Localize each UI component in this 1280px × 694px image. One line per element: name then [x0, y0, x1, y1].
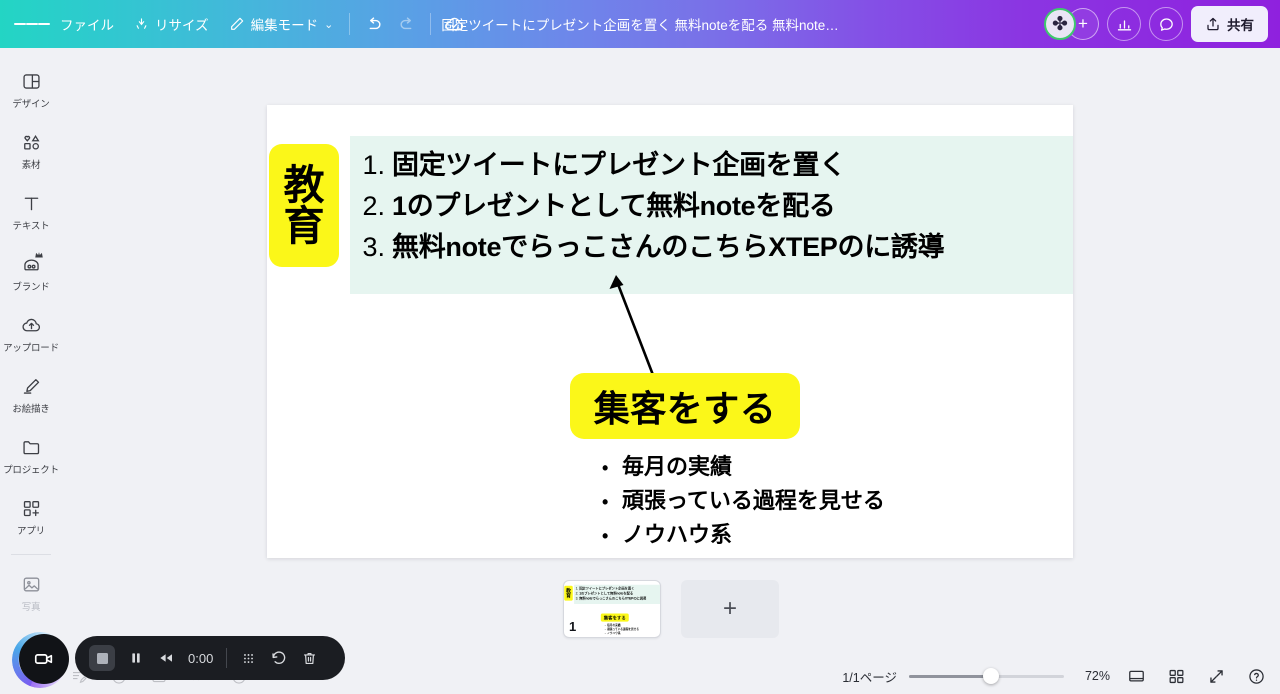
redo-icon[interactable] — [390, 8, 424, 40]
camera-bubble-button[interactable] — [19, 634, 69, 684]
tag-char-1: 教 — [284, 165, 325, 205]
upload-icon — [1205, 16, 1221, 32]
document-title[interactable]: 固定ツイートにプレゼント企画を置く 無料noteを配る 無料note… — [431, 9, 849, 39]
sidebar-item-draw[interactable]: お絵描き — [2, 367, 60, 420]
sidebar-item-apps[interactable]: アプリ — [2, 489, 60, 542]
stop-square-icon[interactable] — [89, 645, 115, 671]
sidebar-item-elements[interactable]: 素材 — [2, 123, 60, 176]
sidebar-label: 素材 — [22, 157, 41, 171]
dots-grid-icon[interactable] — [240, 650, 257, 667]
list-text: 無料noteでらっこさんのこちらXTEPのに誘導 — [579, 596, 646, 601]
design-layout-icon — [19, 69, 43, 93]
hamburger-icon[interactable] — [14, 8, 50, 40]
list-text: 無料noteでらっこさんのこちらXTEPのに誘導 — [392, 227, 944, 268]
sidebar-label: 写真 — [22, 599, 41, 613]
page-thumbnail-1[interactable]: 教 育 1. 固定ツイートにプレゼント企画を置く 2. 1のプレゼントとして無料… — [563, 580, 661, 638]
bullet-marker: • — [602, 489, 622, 517]
undo-icon[interactable] — [356, 8, 390, 40]
page-thumbnail-strip: 教 育 1. 固定ツイートにプレゼント企画を置く 2. 1のプレゼントとして無料… — [62, 580, 1280, 638]
avatar-splat-icon: ✤ — [1052, 15, 1068, 34]
sidebar-divider — [11, 554, 51, 555]
design-page[interactable]: 教 育 1. 固定ツイートにプレゼント企画を置く 2. 1のプレゼントとして無料… — [267, 105, 1073, 558]
sidebar-label: アップロード — [3, 340, 59, 354]
bullet-text: 頑張っている過程を見せる — [622, 484, 885, 518]
list-number: 2. — [352, 186, 392, 227]
thumb-bullets: • 毎月の実績 • 頑張っている過程を見せる • ノウハウ系 — [605, 623, 639, 635]
apps-grid-plus-icon — [19, 496, 43, 520]
sidebar-item-text[interactable]: テキスト — [2, 184, 60, 237]
highlight-callout[interactable]: 集客をする — [570, 373, 800, 439]
share-label: 共有 — [1227, 14, 1254, 34]
sidebar-item-uploads[interactable]: アップロード — [2, 306, 60, 359]
bullet-list-block[interactable]: • 毎月の実績 • 頑張っている過程を見せる • ノウハウ系 — [602, 450, 885, 552]
zoom-slider[interactable] — [909, 669, 1064, 683]
left-sidebar: デザイン 素材 テキスト — [0, 48, 62, 694]
video-camera-icon — [33, 648, 55, 670]
add-page-button[interactable]: + — [681, 580, 779, 638]
chevron-down-icon: ⌄ — [324, 18, 333, 31]
thumb-numbered-list: 1. 固定ツイートにプレゼント企画を置く 2. 1のプレゼントとして無料note… — [574, 585, 661, 604]
sidebar-label: アプリ — [17, 523, 45, 537]
present-screen-icon[interactable] — [1122, 662, 1150, 690]
slider-thumb[interactable] — [983, 668, 999, 684]
education-tag[interactable]: 教 育 — [269, 144, 339, 267]
text-t-icon — [19, 191, 43, 215]
list-item: 2. 1のプレゼントとして無料noteを配る — [352, 186, 1073, 227]
list-item: • 頑張っている過程を見せる — [602, 484, 885, 518]
thumb-tag-char-2: 育 — [566, 593, 571, 598]
list-item: • ノウハウ系 — [605, 631, 639, 635]
sidebar-item-projects[interactable]: プロジェクト — [2, 428, 60, 481]
recording-timer: 0:00 — [188, 651, 213, 666]
elements-shapes-icon — [19, 130, 43, 154]
numbered-list-block[interactable]: 1. 固定ツイートにプレゼント企画を置く 2. 1のプレゼントとして無料note… — [350, 136, 1073, 294]
pause-icon[interactable] — [128, 650, 144, 666]
bullet-text: ノウハウ系 — [607, 631, 620, 635]
photo-icon — [19, 572, 43, 596]
curved-arrow-icon — [607, 269, 667, 379]
sidebar-item-photos[interactable]: 写真 — [2, 565, 60, 618]
bullet-text: 毎月の実績 — [622, 450, 732, 484]
page-counter: 1/1ページ — [842, 667, 897, 686]
list-item: 3. 無料noteでらっこさんのこちらXTEPのに誘導 — [574, 596, 661, 601]
magic-resize-icon — [134, 17, 149, 32]
avatar[interactable]: ✤ — [1044, 8, 1076, 40]
folder-icon — [19, 435, 43, 459]
grid-view-icon[interactable] — [1162, 662, 1190, 690]
file-menu-button[interactable]: ファイル — [50, 8, 124, 40]
slider-fill — [909, 675, 991, 678]
sidebar-label: プロジェクト — [3, 462, 59, 476]
top-toolbar: ファイル リサイズ 編集モード ⌄ — [0, 0, 1280, 48]
highlight-text: 集客をする — [594, 380, 777, 432]
brand-crown-icon — [19, 252, 43, 276]
resize-label: リサイズ — [155, 14, 209, 34]
thumb-education-tag: 教 育 — [564, 586, 573, 601]
sidebar-label: お絵描き — [12, 401, 49, 415]
sidebar-item-design[interactable]: デザイン — [2, 62, 60, 115]
upload-cloud-icon — [19, 313, 43, 337]
recorder-divider — [226, 648, 227, 668]
sidebar-label: デザイン — [12, 96, 49, 110]
list-text: 固定ツイートにプレゼント企画を置く — [392, 145, 846, 186]
top-toolbar-right: ✤ + 共有 — [1044, 6, 1268, 42]
bullet-marker: • — [602, 455, 622, 483]
restart-icon[interactable] — [270, 649, 288, 667]
trash-icon[interactable] — [301, 650, 318, 667]
list-text: 1のプレゼントとして無料noteを配る — [392, 186, 836, 227]
analytics-icon[interactable] — [1107, 7, 1141, 41]
share-button[interactable]: 共有 — [1191, 6, 1268, 42]
thumbnail-preview: 教 育 1. 固定ツイートにプレゼント企画を置く 2. 1のプレゼントとして無料… — [564, 581, 661, 636]
edit-mode-button[interactable]: 編集モード ⌄ — [219, 8, 344, 40]
highlight-text: 集客をする — [604, 614, 626, 620]
zoom-percentage: 72% — [1076, 669, 1110, 683]
draw-pen-icon — [19, 374, 43, 398]
bullet-marker: • — [602, 523, 622, 551]
rewind-icon[interactable] — [157, 649, 175, 667]
recording-toolbar: 0:00 — [75, 636, 345, 680]
collaborators: ✤ + — [1044, 8, 1099, 40]
sidebar-label: テキスト — [13, 218, 50, 232]
edit-mode-label: 編集モード — [251, 14, 319, 34]
list-number: 3. — [352, 227, 392, 268]
top-toolbar-left: ファイル リサイズ 編集モード ⌄ — [0, 8, 471, 40]
resize-button[interactable]: リサイズ — [124, 8, 219, 40]
thumb-highlight: 集客をする — [601, 614, 629, 622]
list-item: 1. 固定ツイートにプレゼント企画を置く — [352, 145, 1073, 186]
tag-char-2: 育 — [284, 206, 325, 246]
pencil-icon — [229, 16, 245, 32]
sidebar-item-brand[interactable]: ブランド — [2, 245, 60, 298]
expand-icon[interactable] — [1202, 662, 1230, 690]
canvas-work-area[interactable]: 教 育 1. 固定ツイートにプレゼント企画を置く 2. 1のプレゼントとして無料… — [62, 48, 1280, 694]
list-item: 3. 無料noteでらっこさんのこちらXTEPのに誘導 — [352, 227, 1073, 268]
file-menu-label: ファイル — [60, 14, 114, 34]
bullet-text: ノウハウ系 — [622, 518, 732, 552]
canva-editor-window: ファイル リサイズ 編集モード ⌄ — [0, 0, 1280, 694]
toolbar-divider-1 — [349, 13, 350, 35]
page-number-label: 1 — [569, 619, 576, 634]
list-item: • 毎月の実績 — [602, 450, 885, 484]
comment-icon[interactable] — [1149, 7, 1183, 41]
sidebar-label: ブランド — [12, 279, 49, 293]
list-item: • ノウハウ系 — [602, 518, 885, 552]
help-circle-icon[interactable] — [1242, 662, 1270, 690]
list-number: 1. — [352, 145, 392, 186]
